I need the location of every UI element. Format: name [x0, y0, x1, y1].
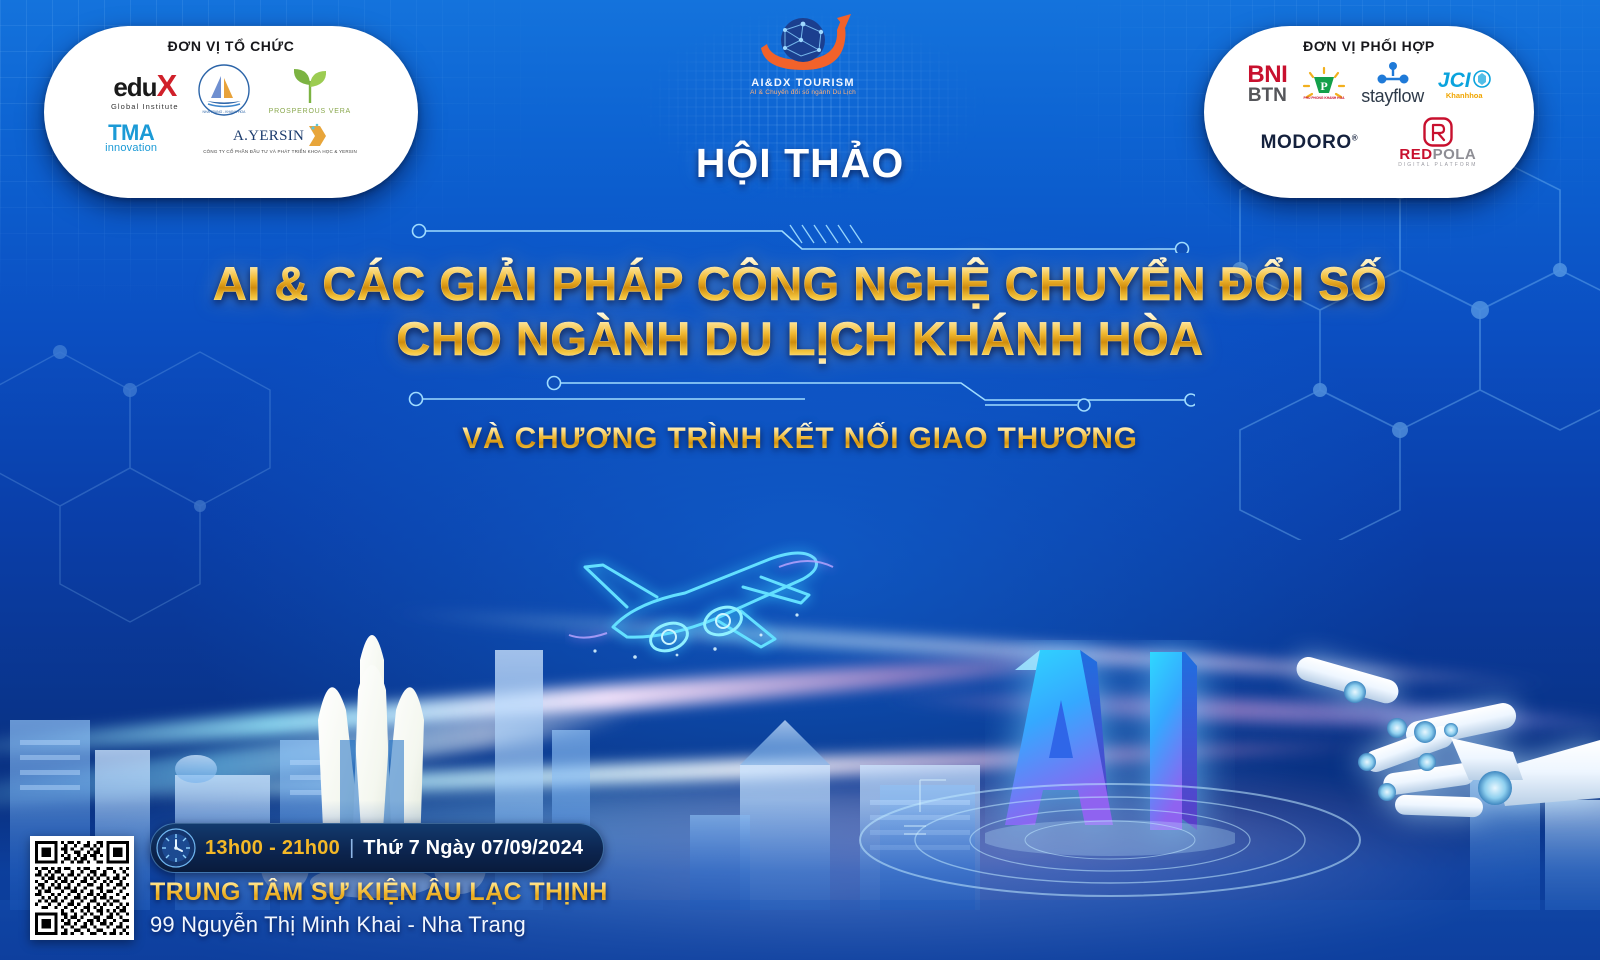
- qr-code-image: [35, 841, 129, 935]
- event-time: 13h00 - 21h00: [205, 837, 340, 860]
- clock-icon: [156, 828, 196, 868]
- brand-logo: AI&DX TOURISM AI & Chuyển đổi số ngành D…: [728, 14, 878, 96]
- venue-address: 99 Nguyễn Thị Minh Khai - Nha Trang: [150, 912, 608, 938]
- headline-block: HỘI THẢO AI & CÁC GIẢI PHÁP CÔNG NGHỆ CH…: [0, 140, 1600, 456]
- datetime-badge: 13h00 - 21h00 | Thứ 7 Ngày 07/09/2024: [150, 823, 604, 873]
- venue-name: TRUNG TÂM SỰ KIỆN ÂU LẠC THỊNH: [150, 878, 608, 907]
- event-info-block: 13h00 - 21h00 | Thứ 7 Ngày 07/09/2024 TR…: [30, 823, 608, 940]
- logo-nhatrang-seal: NHA TRANG - KHANH HOA: [197, 63, 251, 117]
- stayflow-label: stayflow: [1361, 86, 1424, 107]
- neon-airplane-icon: [565, 515, 845, 665]
- partners-title: ĐƠN VỊ PHỐI HỢP: [1303, 38, 1435, 54]
- edux-subtitle: Global Institute: [111, 102, 179, 111]
- jci-mark: JCI: [1438, 70, 1471, 91]
- edux-accent: X: [157, 68, 177, 103]
- globe-network-swoosh-icon: [753, 14, 853, 76]
- robotic-hand-icon: [1255, 620, 1600, 870]
- event-poster: ĐƠN VỊ TỔ CHỨC eduX Global Institute NHA…: [0, 0, 1600, 960]
- sprout-leaf-icon: [285, 65, 335, 107]
- logo-prosperous-vera: PROSPEROUS VERA: [269, 65, 351, 115]
- jci-crest-icon: [1473, 70, 1491, 90]
- bni-mark: BNI: [1247, 64, 1287, 86]
- stayflow-node-icon: [1376, 62, 1410, 86]
- jci-subtitle: Khanhhoa: [1446, 91, 1483, 100]
- circuit-divider-top: [410, 209, 1190, 253]
- brand-name: AI&DX TOURISM: [728, 77, 878, 89]
- logo-stayflow: stayflow: [1361, 62, 1424, 107]
- logo-edux: eduX Global Institute: [111, 70, 179, 111]
- svg-text:P: P: [1321, 79, 1328, 93]
- svg-text:NHA TRANG - KHANH HOA: NHA TRANG - KHANH HOA: [202, 110, 246, 114]
- sailboat-seal-icon: NHA TRANG - KHANH HOA: [197, 63, 251, 117]
- event-details: 13h00 - 21h00 | Thứ 7 Ngày 07/09/2024 TR…: [150, 823, 608, 940]
- logo-phu-phong: P PHU PHONG KHANH HOA: [1301, 66, 1347, 104]
- organizers-title: ĐƠN VỊ TỔ CHỨC: [168, 38, 295, 54]
- circuit-divider-bottom: [405, 372, 1195, 412]
- phu-phong-sun-logo: P PHU PHONG KHANH HOA: [1301, 66, 1347, 104]
- badge-separator: |: [349, 837, 354, 860]
- logo-bni-btn: BNI BTN: [1247, 64, 1287, 105]
- subtitle-text: VÀ CHƯƠNG TRÌNH KẾT NỐI GIAO THƯƠNG: [0, 422, 1600, 456]
- event-date: Thứ 7 Ngày 07/09/2024: [363, 837, 583, 860]
- svg-text:PHU PHONG KHANH HOA: PHU PHONG KHANH HOA: [1304, 96, 1346, 100]
- brand-tagline: AI & Chuyển đổi số ngành Du Lịch: [728, 89, 878, 96]
- title-line-1: AI & CÁC GIẢI PHÁP CÔNG NGHỆ CHUYỂN ĐỔI …: [0, 257, 1600, 312]
- kicker-text: HỘI THẢO: [0, 140, 1600, 187]
- title-line-2: CHO NGÀNH DU LỊCH KHÁNH HÒA: [0, 312, 1600, 367]
- logo-jci-khanhhoa: JCI Khanhhoa: [1438, 70, 1491, 100]
- edux-mark: edu: [113, 72, 156, 102]
- qr-code[interactable]: [30, 836, 134, 940]
- prosperous-vera-label: PROSPEROUS VERA: [269, 108, 351, 115]
- bni-subtitle: BTN: [1248, 86, 1287, 105]
